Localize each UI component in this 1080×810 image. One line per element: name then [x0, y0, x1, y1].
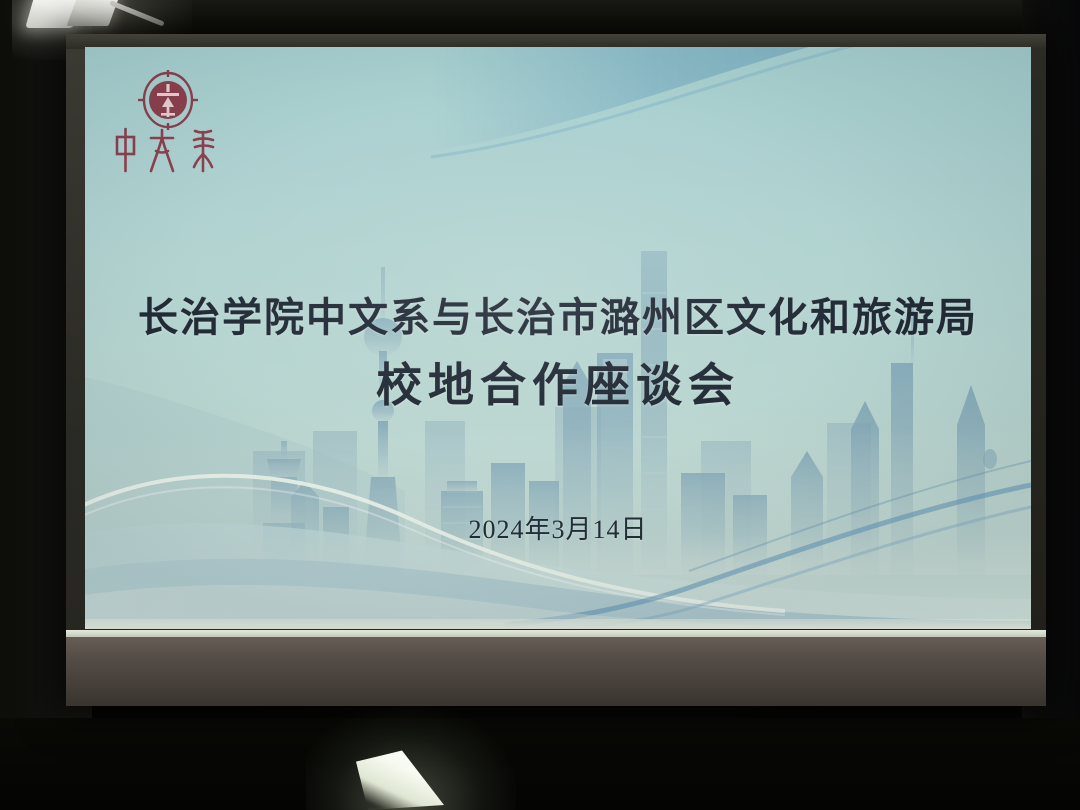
ribbon-waves-bottom	[85, 449, 1031, 629]
projector-screen-surface: 长治学院中文系与长治市潞州区文化和旅游局 校地合作座谈会 2024年3月14日	[85, 47, 1031, 629]
department-seal-icon	[137, 69, 199, 131]
screen-frame-bottom	[66, 630, 1046, 706]
screen-frame-lip	[66, 630, 1046, 637]
department-wordmark-zhongwenxi	[107, 127, 232, 175]
projector-screen-frame: 长治学院中文系与长治市潞州区文化和旅游局 校地合作座谈会 2024年3月14日	[66, 34, 1046, 706]
floor	[0, 718, 1080, 810]
conference-room-scene: 长治学院中文系与长治市潞州区文化和旅游局 校地合作座谈会 2024年3月14日	[0, 0, 1080, 810]
ribbon-swoosh-top	[431, 47, 1031, 231]
department-logo	[107, 69, 232, 179]
slide-bottom-band	[85, 619, 1031, 629]
